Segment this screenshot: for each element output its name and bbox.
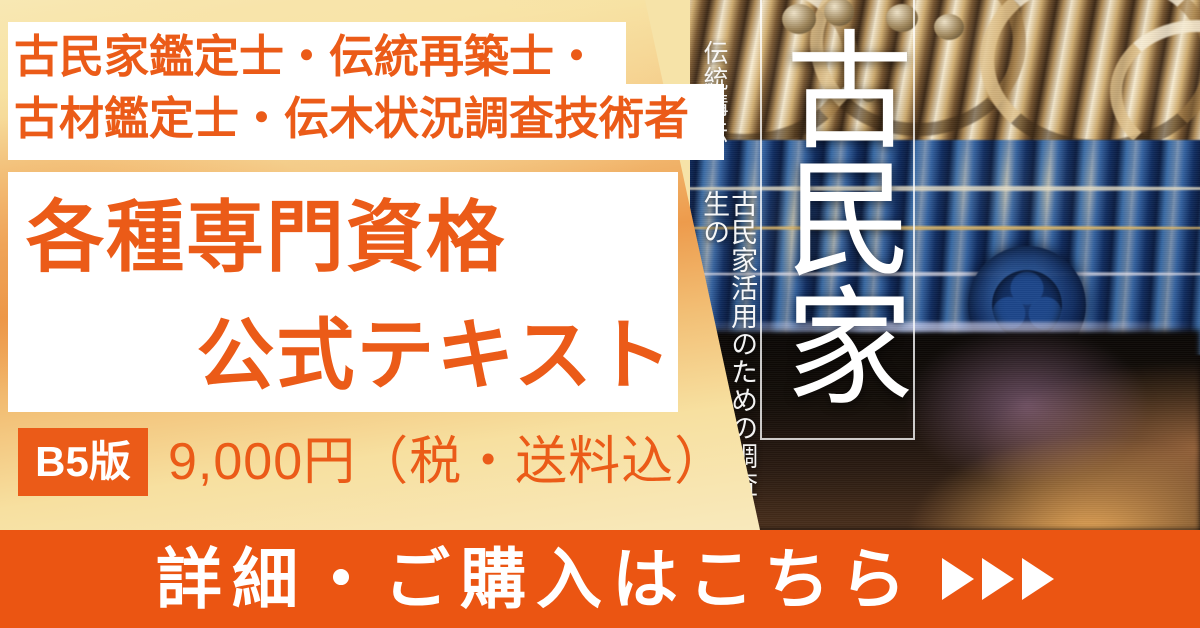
cta-label: 詳細・ご購入はこちら <box>146 546 916 612</box>
headline-line-2: 古材鑑定士・伝木状況調査技術者 <box>14 88 728 150</box>
headline-line-1: 古民家鑑定士・伝統再築士・ <box>14 26 728 88</box>
subtitle-line-2: 公式テキスト <box>8 296 680 414</box>
promo-banner[interactable]: 古民家 伝統構法 古民家活用のための調査と再生の 古民家鑑定士・伝統再築士・ 古… <box>0 0 1200 628</box>
triangle-right-icon <box>1022 558 1054 600</box>
cta-bar[interactable]: 詳細・ご購入はこちら <box>0 530 1200 628</box>
format-badge: B5版 <box>18 428 148 496</box>
subtitle-line-1: 各種専門資格 <box>8 178 680 296</box>
headline: 古民家鑑定士・伝統再築士・ 古材鑑定士・伝木状況調査技術者 <box>14 26 728 150</box>
cover-title: 古民家 <box>768 6 908 426</box>
triangle-right-icon <box>982 558 1014 600</box>
subtitle: 各種専門資格 公式テキスト <box>8 178 680 414</box>
triangle-right-icon <box>942 558 974 600</box>
price-text: 9,000円（税・送料込） <box>168 428 727 496</box>
cta-arrow-group <box>942 558 1054 600</box>
wood-knob-4 <box>934 14 964 40</box>
